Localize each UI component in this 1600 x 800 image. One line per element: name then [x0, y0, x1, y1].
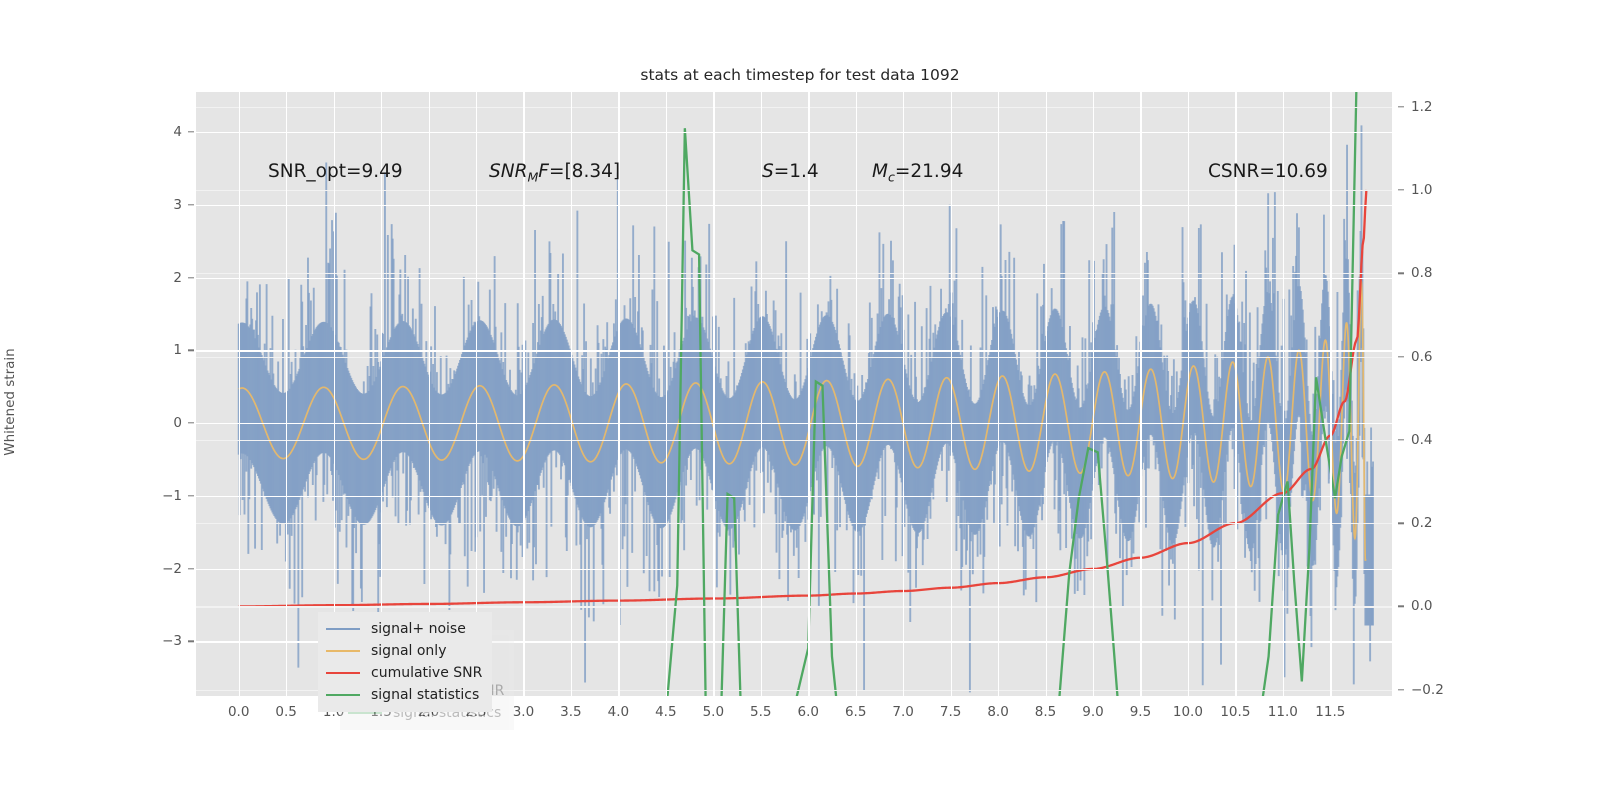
gridline-vertical — [856, 92, 857, 696]
plot-svg — [196, 92, 1392, 696]
gridline-vertical — [429, 92, 430, 696]
gridline-vertical — [1235, 92, 1236, 696]
gridline-vertical — [1188, 92, 1189, 696]
gridline-vertical — [1093, 92, 1094, 696]
gridline-vertical — [1046, 92, 1047, 696]
gridline-vertical — [476, 92, 477, 696]
gridline-horizontal-right — [196, 107, 1392, 108]
y-tick-label-right: 0.0 — [1411, 598, 1471, 614]
y-tick-label-right: −0.2 — [1411, 682, 1471, 698]
y-axis-label-left: Whitened strain — [2, 242, 18, 562]
legend-color-swatch — [326, 628, 360, 631]
legend[interactable]: signal+ noisesignal onlycumulative SNRsi… — [318, 612, 492, 712]
legend-color-swatch — [348, 712, 382, 715]
y-tick-mark-right — [1398, 522, 1404, 523]
y-tick-mark-left — [188, 277, 194, 278]
annotation-s-stat: S=1.4 — [762, 161, 819, 182]
gridline-vertical — [666, 92, 667, 696]
gridline-horizontal-right — [196, 606, 1392, 607]
gridline-horizontal-right — [196, 440, 1392, 441]
legend-item[interactable]: signal+ noise — [326, 618, 482, 640]
y-tick-label-left: −3 — [136, 633, 182, 649]
chart-title: stats at each timestep for test data 109… — [0, 66, 1600, 84]
y-tick-label-left: 4 — [136, 124, 182, 140]
gridline-horizontal — [196, 278, 1392, 279]
y-tick-label-left: −2 — [136, 561, 182, 577]
gridline-horizontal-right — [196, 273, 1392, 274]
gridline-horizontal-right — [196, 523, 1392, 524]
annotation-csnr: CSNR=10.69 — [1208, 161, 1328, 182]
y-tick-mark-right — [1398, 606, 1404, 607]
x-tick-label: 11.5 — [1300, 704, 1360, 720]
gridline-vertical — [713, 92, 714, 696]
y-tick-mark-left — [188, 204, 194, 205]
gridline-horizontal — [196, 569, 1392, 570]
gridline-vertical — [998, 92, 999, 696]
y-tick-label-left: 3 — [136, 197, 182, 213]
y-tick-mark-left — [188, 495, 194, 496]
y-tick-label-right: 0.8 — [1411, 265, 1471, 281]
y-tick-mark-left — [188, 641, 194, 642]
y-tick-mark-right — [1398, 439, 1404, 440]
gridline-vertical — [1140, 92, 1141, 696]
y-tick-mark-left — [188, 422, 194, 423]
gridline-vertical — [334, 92, 335, 696]
gridline-vertical — [1330, 92, 1331, 696]
annotation-snr-mf: SNRMF=[8.34] — [489, 161, 620, 185]
gridline-horizontal — [196, 205, 1392, 206]
y-tick-mark-right — [1398, 106, 1404, 107]
gridline-horizontal — [196, 132, 1392, 133]
y-tick-mark-left — [188, 131, 194, 132]
gridline-vertical — [381, 92, 382, 696]
y-tick-label-right: 1.0 — [1411, 182, 1471, 198]
legend-color-swatch — [326, 650, 360, 653]
y-tick-label-left: 0 — [136, 415, 182, 431]
legend-item-label: cumulative SNR — [371, 665, 482, 681]
plot-area — [196, 92, 1392, 696]
legend-item[interactable]: signal statistics — [326, 684, 482, 706]
legend-color-swatch — [326, 672, 360, 675]
annotation-chirp-mass: Mc=21.94 — [872, 161, 963, 185]
gridline-vertical — [239, 92, 240, 696]
legend-item[interactable]: signal only — [326, 640, 482, 662]
y-tick-label-left: 2 — [136, 270, 182, 286]
figure-canvas: stats at each timestep for test data 109… — [0, 0, 1600, 800]
y-tick-label-right: 0.2 — [1411, 515, 1471, 531]
y-tick-mark-right — [1398, 689, 1404, 690]
gridline-horizontal — [196, 423, 1392, 424]
y-tick-label-right: 0.6 — [1411, 349, 1471, 365]
gridline-horizontal — [196, 350, 1392, 351]
y-tick-mark-right — [1398, 356, 1404, 357]
gridline-horizontal-right — [196, 357, 1392, 358]
legend-item-label: signal only — [371, 643, 446, 659]
y-tick-mark-left — [188, 350, 194, 351]
legend-item[interactable]: cumulative SNR — [326, 662, 482, 684]
gridline-vertical — [1283, 92, 1284, 696]
legend-color-swatch — [326, 694, 360, 697]
y-tick-label-left: 1 — [136, 342, 182, 358]
y-tick-label-left: −1 — [136, 488, 182, 504]
legend-item-label: signal+ noise — [371, 621, 466, 637]
gridline-vertical — [808, 92, 809, 696]
annotation-snr-opt: SNR_opt=9.49 — [268, 161, 403, 182]
y-tick-mark-left — [188, 568, 194, 569]
y-tick-mark-right — [1398, 189, 1404, 190]
legend-item-label: signal statistics — [371, 687, 479, 703]
y-tick-mark-right — [1398, 272, 1404, 273]
gridline-horizontal — [196, 496, 1392, 497]
gridline-horizontal-right — [196, 190, 1392, 191]
gridline-vertical — [761, 92, 762, 696]
y-tick-label-right: 0.4 — [1411, 432, 1471, 448]
y-tick-label-right: 1.2 — [1411, 99, 1471, 115]
gridline-vertical — [286, 92, 287, 696]
